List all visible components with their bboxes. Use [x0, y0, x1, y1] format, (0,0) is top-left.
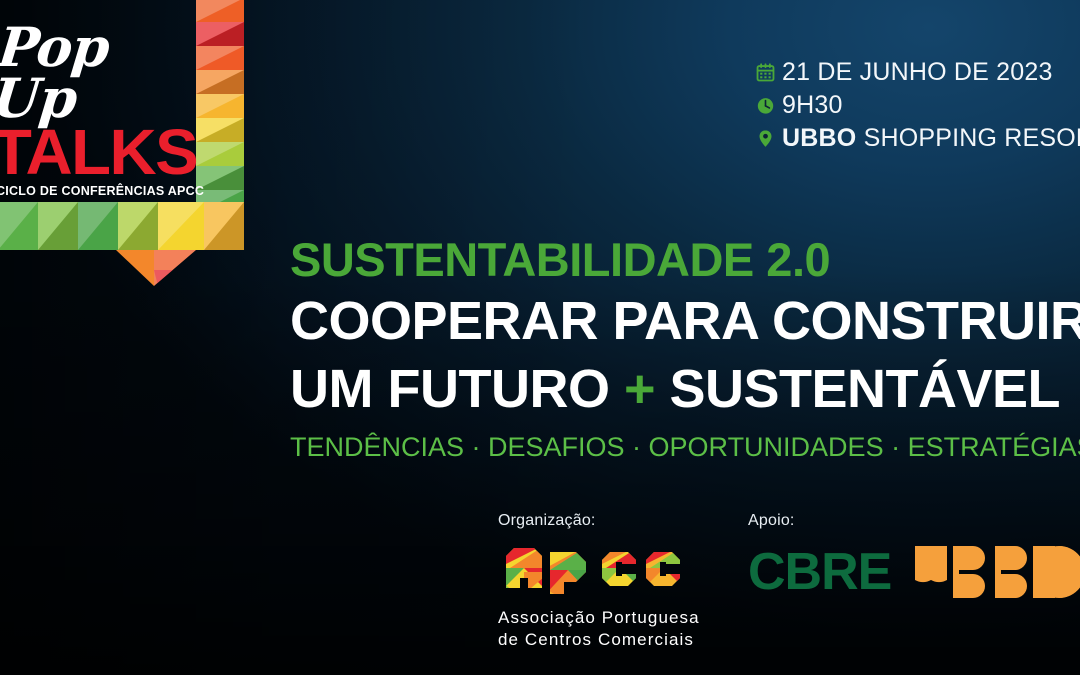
- calendar-icon: [756, 63, 782, 82]
- location-pin-icon: [756, 129, 782, 148]
- headline-line-2-after: SUSTENTÁVEL: [655, 359, 1060, 419]
- organizer-name-line-2: de Centros Comerciais: [498, 629, 730, 651]
- support-group: Apoio: CBRE: [748, 512, 1080, 600]
- headline-subtitle: TENDÊNCIAS · DESAFIOS · OPORTUNIDADES · …: [290, 434, 1080, 461]
- sponsor-strip: Organização:: [498, 512, 1080, 651]
- popup-talks-logo: Pop Up TALKS CICLO DE CONFERÊNCIAS APCC: [0, 22, 204, 198]
- event-venue-row: UBBO SHOPPING RESORT: [756, 122, 1080, 155]
- support-logos: CBRE: [748, 544, 1080, 600]
- organizer-name-line-1: Associação Portuguesa: [498, 607, 730, 629]
- event-date-text: 21 DE JUNHO DE 2023: [782, 58, 1053, 87]
- plus-symbol: +: [624, 359, 655, 419]
- event-date-row: 21 DE JUNHO DE 2023: [756, 56, 1080, 89]
- event-info-block: 21 DE JUNHO DE 2023 9H30 UBBO SHOPPING: [756, 56, 1080, 155]
- organizer-group: Organização:: [498, 512, 730, 651]
- logo-script-word: Pop Up: [0, 22, 209, 124]
- support-label: Apoio:: [748, 512, 1080, 530]
- logo-wordmark: TALKS: [0, 126, 208, 178]
- apcc-letter-a: [498, 542, 550, 594]
- apcc-letter-p: [542, 542, 594, 594]
- apcc-letter-c1: [594, 542, 646, 594]
- ubbo-logo: [913, 544, 1080, 600]
- organizer-label: Organização:: [498, 512, 730, 530]
- event-venue-brand: UBBO: [782, 124, 856, 152]
- event-time-row: 9H30: [756, 89, 1080, 122]
- cbre-logo: CBRE: [748, 546, 891, 598]
- apcc-letter-c2: [638, 542, 690, 594]
- headline-line-2: UM FUTURO + SUSTENTÁVEL: [290, 359, 1080, 419]
- event-time-text: 9H30: [782, 91, 843, 120]
- headline-line-2-before: UM FUTURO: [290, 359, 624, 419]
- clock-icon: [756, 96, 782, 115]
- organizer-name: Associação Portuguesa de Centros Comerci…: [498, 607, 730, 651]
- headline-block: SUSTENTABILIDADE 2.0 COOPERAR PARA CONST…: [290, 236, 1080, 461]
- headline-eyebrow: SUSTENTABILIDADE 2.0: [290, 236, 1080, 283]
- event-venue-text: UBBO SHOPPING RESORT: [782, 124, 1080, 153]
- event-venue-suffix: SHOPPING RESORT: [856, 124, 1080, 152]
- headline-line-1: COOPERAR PARA CONSTRUIR: [290, 291, 1080, 351]
- promotional-banner: Pop Up TALKS CICLO DE CONFERÊNCIAS APCC: [0, 0, 1080, 675]
- apcc-logo-mark: [498, 542, 698, 594]
